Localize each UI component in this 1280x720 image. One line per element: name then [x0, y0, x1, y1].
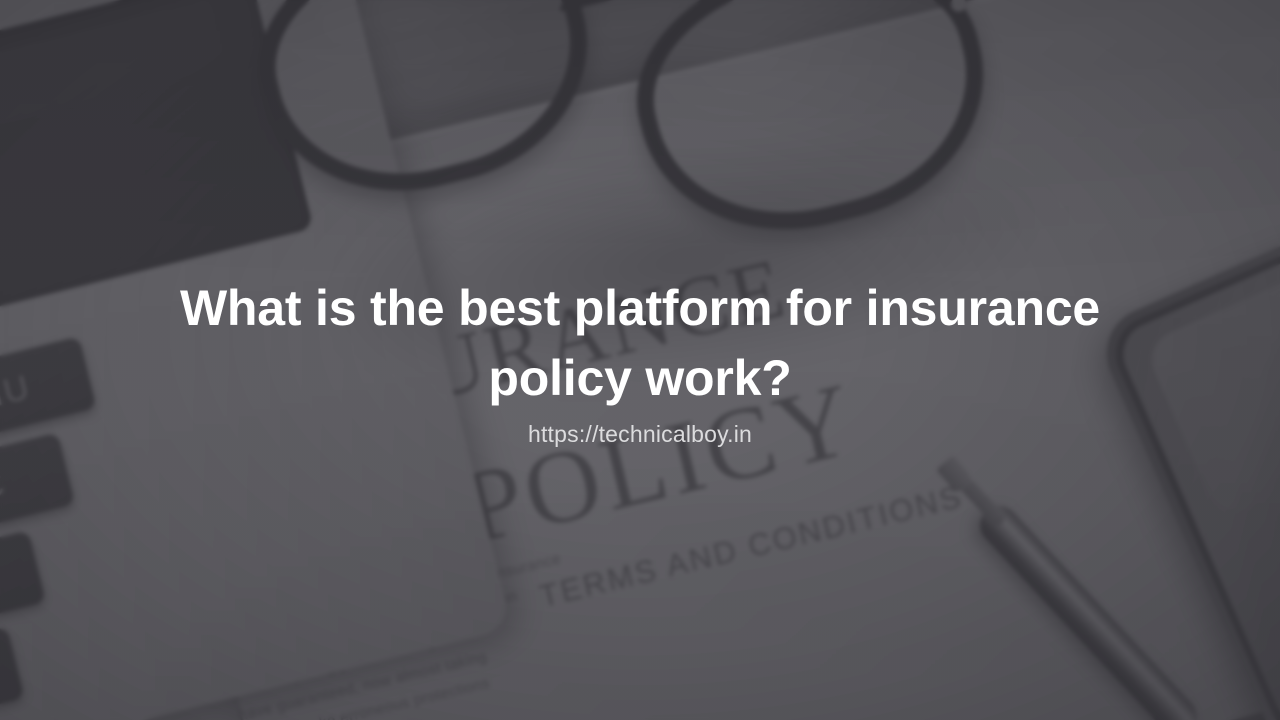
- site-url[interactable]: https://technicalboy.in: [528, 421, 752, 448]
- hero-text-overlay: What is the best platform for insurance …: [0, 0, 1280, 720]
- page-title: What is the best platform for insurance …: [175, 273, 1105, 413]
- hero-banner: INSURANCE POLICY TERMS AND CONDITIONS de…: [0, 0, 1280, 720]
